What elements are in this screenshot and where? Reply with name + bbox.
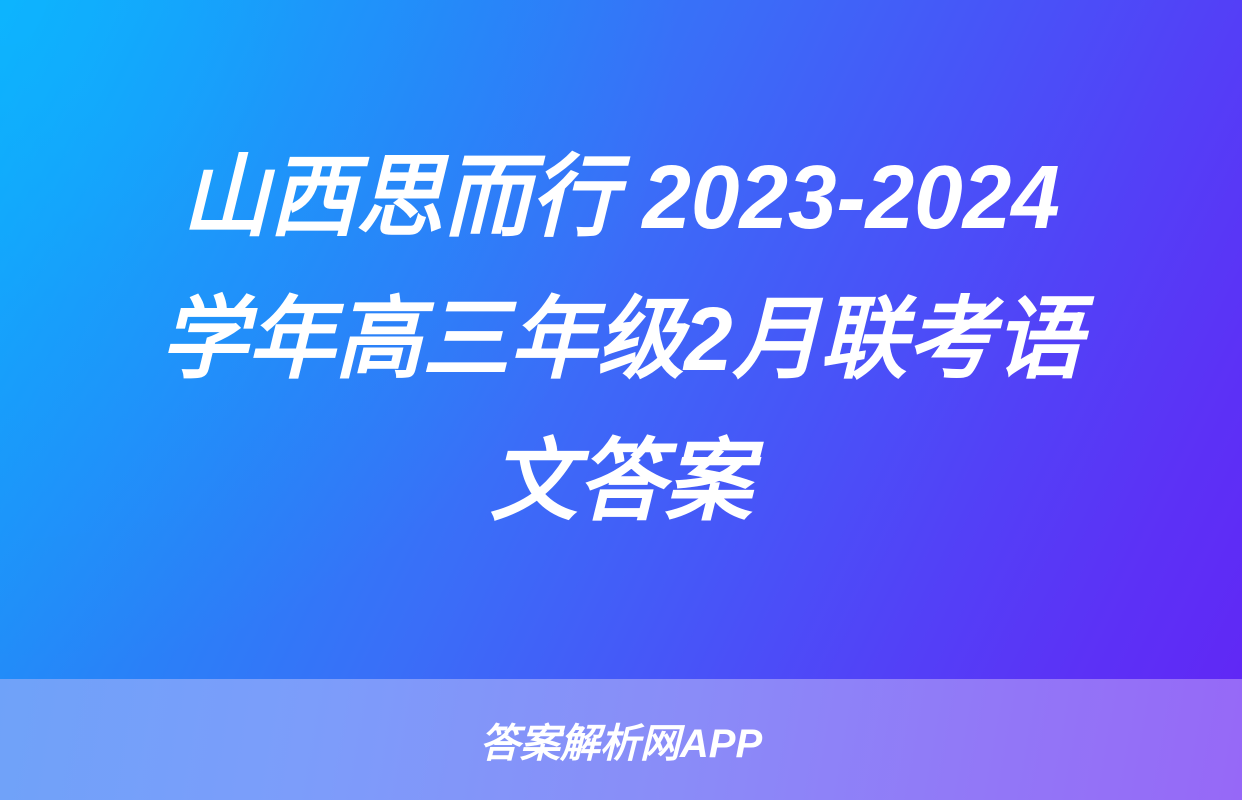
footer-watermark-bar: 答案解析网APP — [0, 679, 1242, 800]
page-title: 山西思而行 2023-2024 学年高三年级2月联考语 文答案 — [0, 0, 1242, 679]
answer-poster: 山西思而行 2023-2024 学年高三年级2月联考语 文答案 答案解析网APP — [0, 0, 1242, 800]
title-line-3: 文答案 — [490, 411, 752, 553]
title-line-1: 山西思而行 2023-2024 — [182, 127, 1060, 269]
title-line-2: 学年高三年级2月联考语 — [160, 269, 1082, 411]
watermark-label: 答案解析网APP — [480, 711, 762, 769]
